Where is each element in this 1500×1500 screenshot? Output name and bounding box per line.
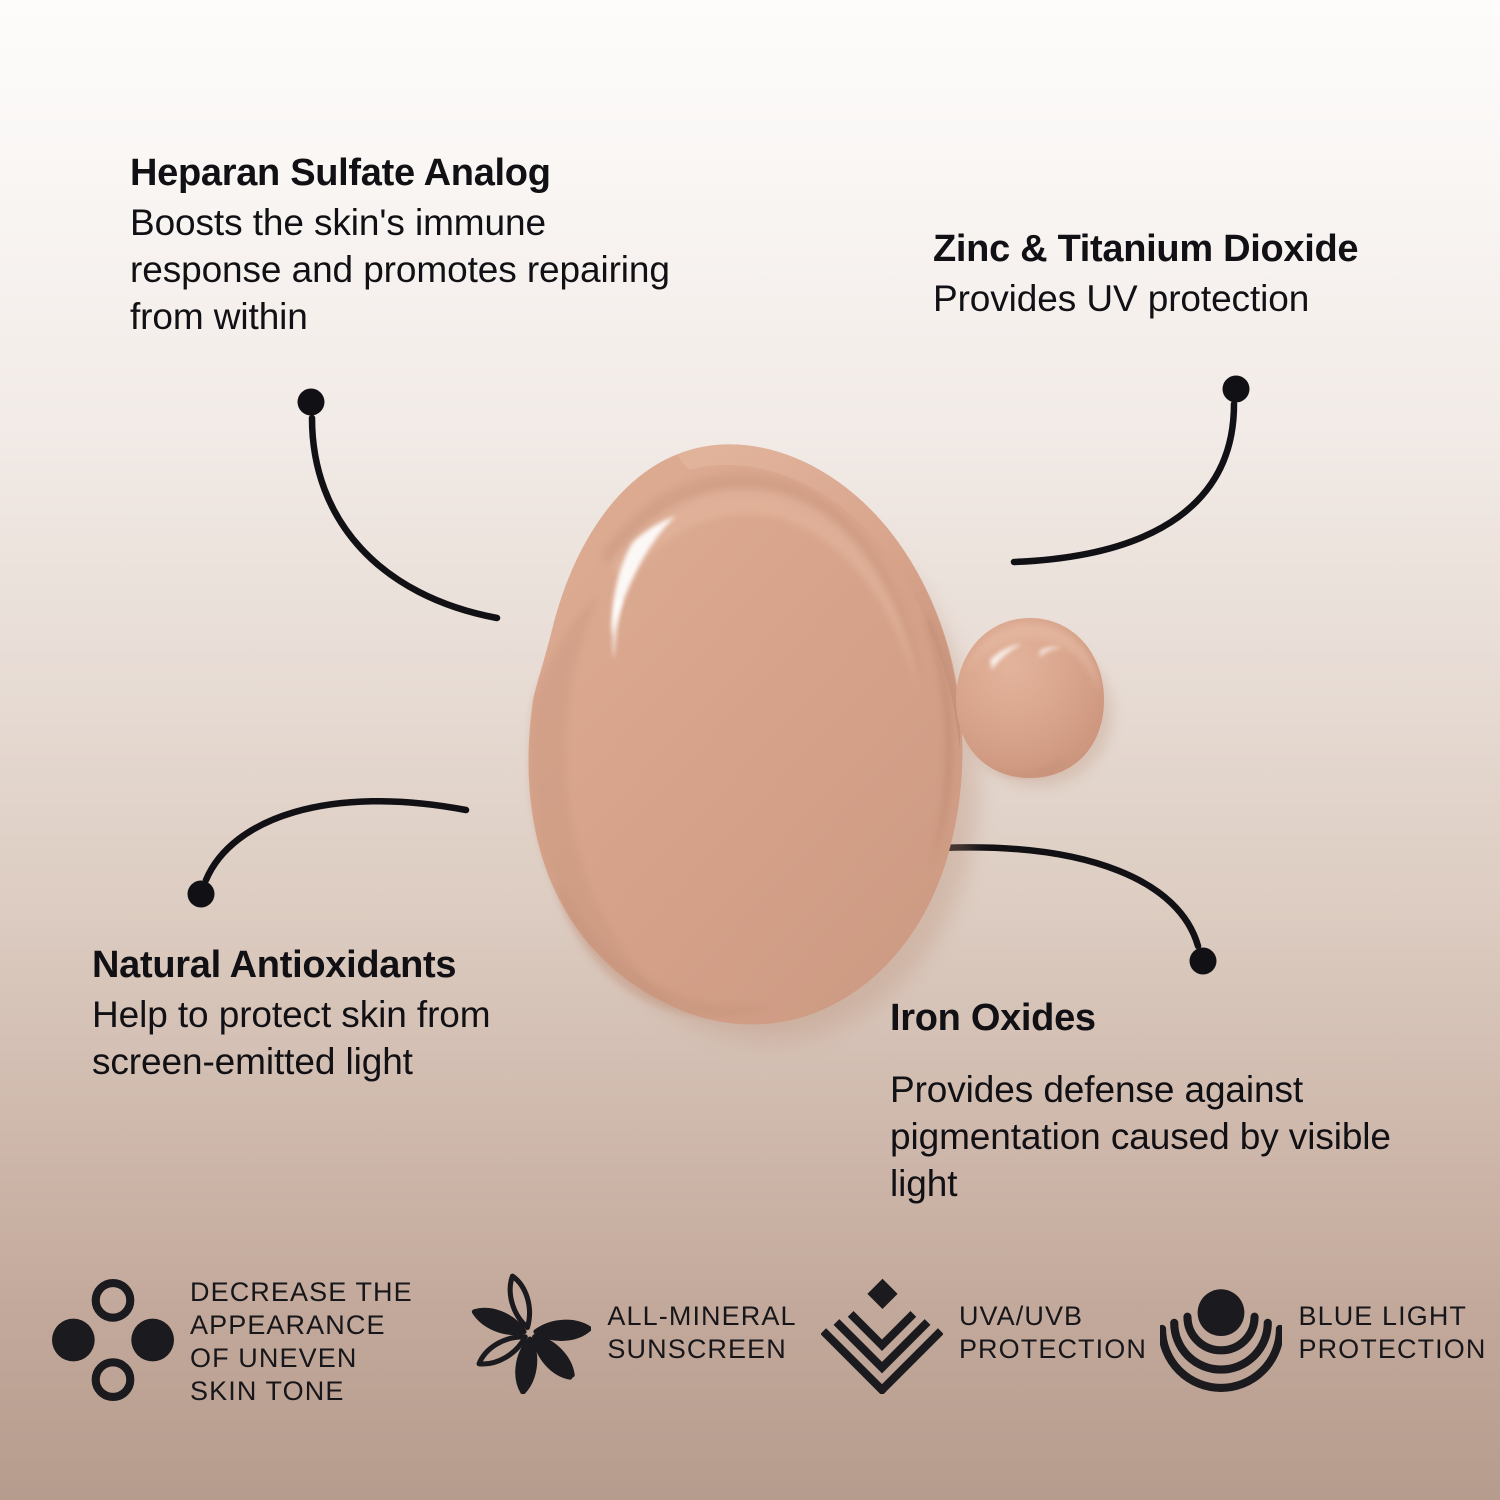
connector-dot-zinc bbox=[1223, 376, 1250, 403]
callout-natural-antioxidants: Natural Antioxidants Help to protect ski… bbox=[92, 944, 612, 1085]
swatch-shadow bbox=[555, 491, 979, 1040]
swatch-body bbox=[529, 444, 963, 1024]
callout-title: Natural Antioxidants bbox=[92, 944, 612, 987]
callout-title: Heparan Sulfate Analog bbox=[130, 152, 670, 195]
swatch-specular-highlight bbox=[612, 516, 676, 636]
callout-body: Help to protect skin from screen-emitted… bbox=[92, 991, 612, 1086]
droplet-top-sheen bbox=[966, 624, 1100, 694]
droplet-bottom-shade bbox=[980, 760, 1066, 777]
product-ingredient-infographic: Heparan Sulfate Analog Boosts the skin's… bbox=[0, 0, 1500, 1500]
four-circles-icon bbox=[52, 1279, 174, 1401]
swatch-specular-highlight-tail bbox=[613, 598, 622, 660]
callout-zinc-titanium-dioxide: Zinc & Titanium Dioxide Provides UV prot… bbox=[933, 228, 1453, 322]
badge-label: DECREASE THE APPEARANCE OF UNEVEN SKIN T… bbox=[190, 1276, 413, 1408]
badge-decrease-uneven-skin-tone: DECREASE THE APPEARANCE OF UNEVEN SKIN T… bbox=[52, 1272, 469, 1408]
swatch-right-edge bbox=[924, 618, 953, 868]
droplet-body bbox=[956, 618, 1104, 778]
badge-label: ALL-MINERAL SUNSCREEN bbox=[607, 1300, 796, 1366]
connector-line-zinc bbox=[1014, 404, 1234, 562]
benefit-badge-row: DECREASE THE APPEARANCE OF UNEVEN SKIN T… bbox=[0, 1272, 1500, 1447]
callout-body: Provides defense against pigmentation ca… bbox=[890, 1066, 1420, 1208]
flower-petals-icon bbox=[469, 1272, 591, 1394]
swatch-inner-highlight-ridge bbox=[608, 488, 918, 692]
swatch-rim-top bbox=[678, 444, 960, 752]
droplet-highlight-small bbox=[1039, 647, 1062, 658]
connector-dot-iron bbox=[1190, 948, 1217, 975]
callout-title: Zinc & Titanium Dioxide bbox=[933, 228, 1453, 271]
connector-line-antioxidants bbox=[206, 801, 466, 880]
callout-title: Iron Oxides bbox=[890, 997, 1420, 1040]
droplet-highlight bbox=[990, 644, 1022, 670]
connector-line-iron bbox=[941, 847, 1198, 946]
callout-body: Boosts the skin's immune response and pr… bbox=[130, 199, 670, 341]
callout-heparan-sulfate: Heparan Sulfate Analog Boosts the skin's… bbox=[130, 152, 670, 341]
chevron-rays-icon bbox=[821, 1272, 943, 1394]
badge-blue-light-protection: BLUE LIGHT PROTECTION bbox=[1160, 1272, 1500, 1394]
swatch-inner-crease bbox=[600, 473, 926, 700]
badge-all-mineral-sunscreen: ALL-MINERAL SUNSCREEN bbox=[469, 1272, 821, 1394]
badge-label: UVA/UVB PROTECTION bbox=[959, 1300, 1147, 1366]
callout-body: Provides UV protection bbox=[933, 275, 1453, 322]
callout-iron-oxides: Iron Oxides Provides defense against pig… bbox=[890, 997, 1420, 1208]
badge-label: BLUE LIGHT PROTECTION bbox=[1298, 1300, 1486, 1366]
badge-uva-uvb-protection: UVA/UVB PROTECTION bbox=[821, 1272, 1161, 1394]
connector-line-heparan bbox=[312, 418, 497, 618]
radiating-waves-icon bbox=[1160, 1272, 1282, 1394]
connector-dot-antioxidants bbox=[188, 881, 215, 908]
connector-dot-heparan bbox=[298, 389, 325, 416]
droplet-shadow bbox=[964, 642, 1112, 786]
